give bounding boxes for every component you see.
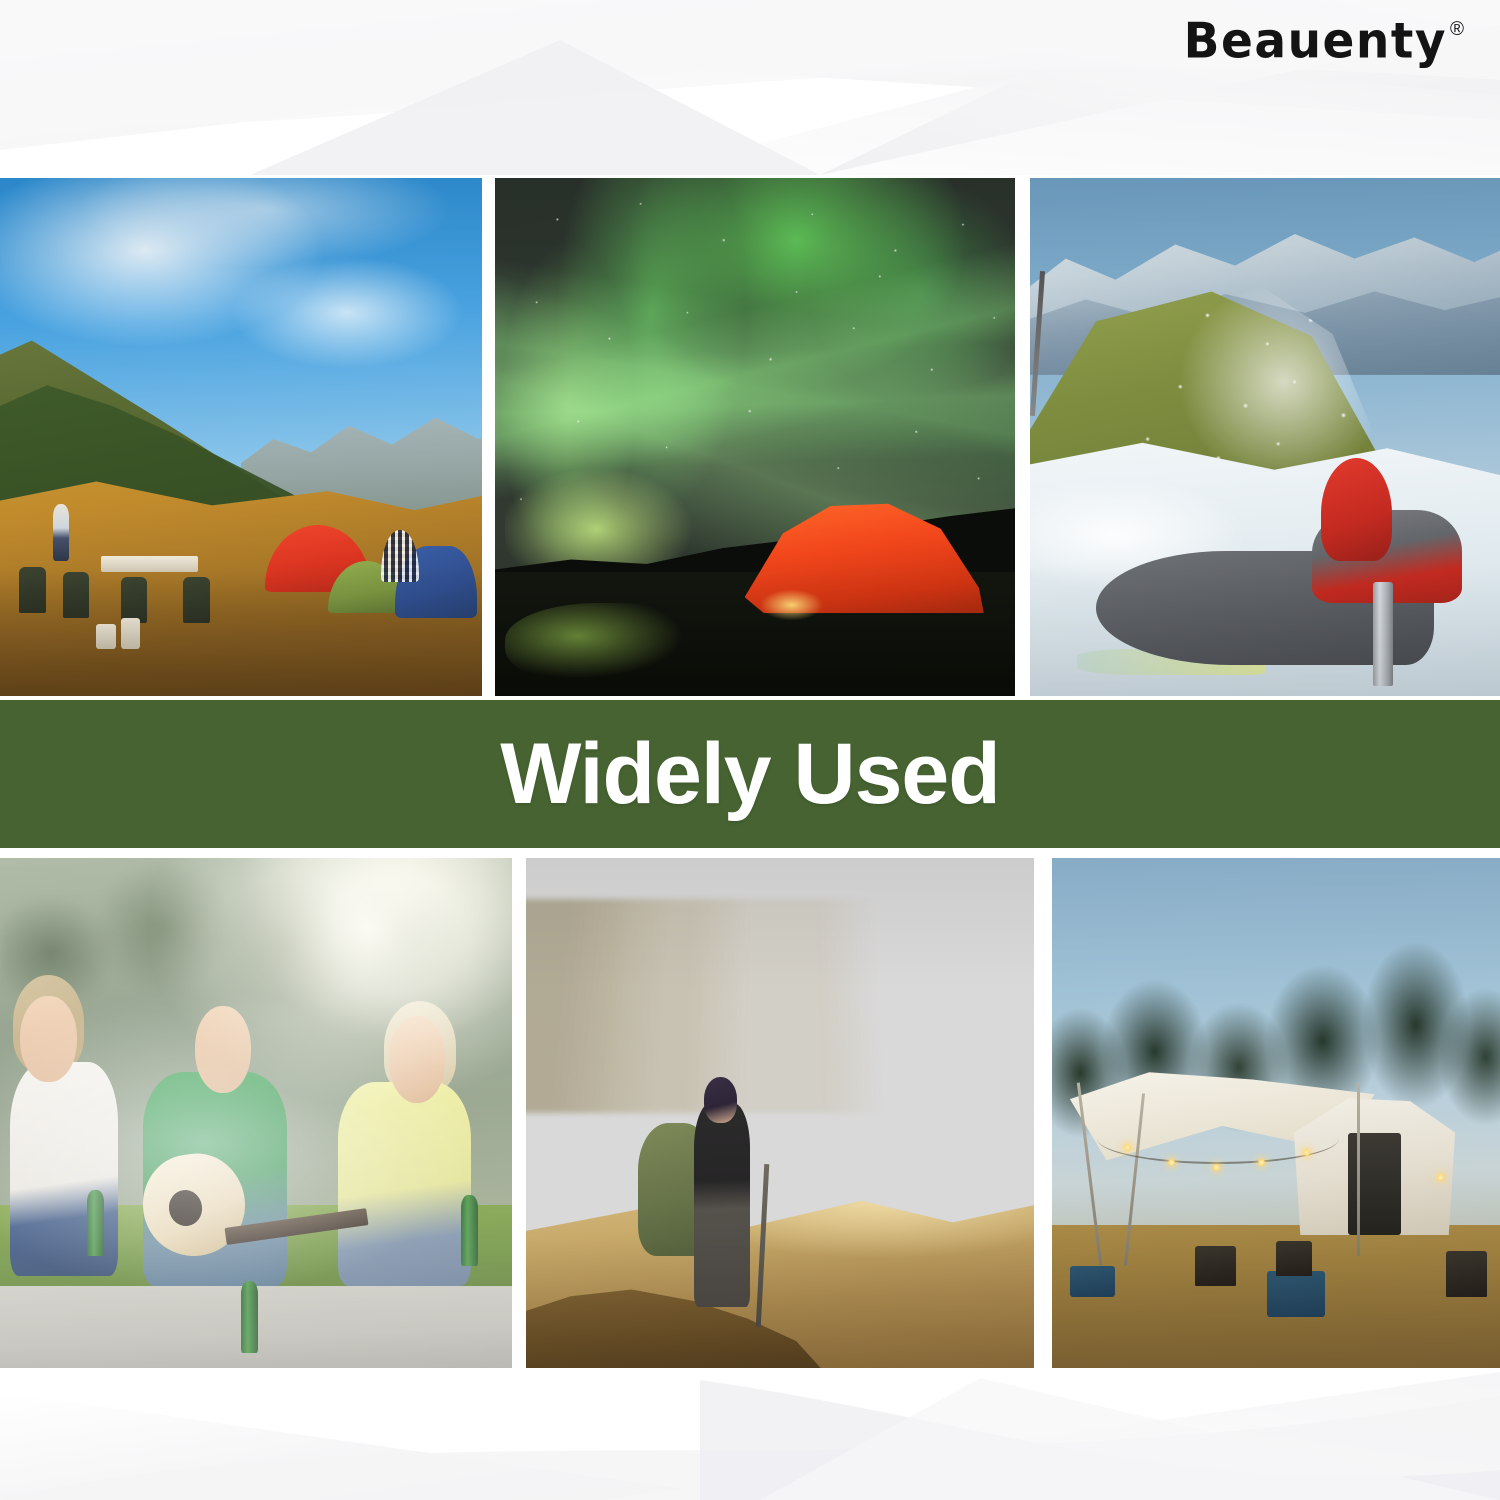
clouds (526, 899, 1034, 1113)
gallery-bottom-row (0, 858, 1500, 1368)
thermos-flask (1373, 582, 1393, 686)
camp-chair (121, 577, 148, 624)
photo-friends-guitar (0, 858, 512, 1368)
camp-chair (19, 567, 46, 614)
water-reflection (505, 603, 713, 686)
photo-aurora-camping (495, 178, 1015, 696)
water-jug (121, 618, 140, 649)
brand-name: Beauenty (1184, 17, 1447, 66)
tarp-pole (1357, 1082, 1360, 1255)
photo-hiker-sunrise (526, 858, 1034, 1368)
photo-winter-camping (1030, 178, 1500, 696)
camp-chair (183, 577, 210, 624)
widely-used-banner: Widely Used (0, 700, 1500, 848)
cooler (96, 624, 115, 650)
camper-figure (53, 504, 69, 561)
gallery-top-row (0, 178, 1500, 696)
photo-mountain-camping (0, 178, 482, 696)
tent-lantern-glow (755, 587, 828, 623)
camp-chair (63, 572, 90, 619)
camp-table (101, 556, 197, 572)
camp-chair (1195, 1246, 1235, 1287)
light-bulb-icon (1124, 1144, 1131, 1151)
banner-title: Widely Used (500, 731, 1000, 817)
sun-haze-overlay (0, 858, 512, 1368)
string-lights (1097, 1113, 1339, 1164)
hiker-figure (694, 1103, 750, 1307)
brand-logo: Beauenty ® (1184, 18, 1464, 65)
storage-box (1267, 1271, 1325, 1317)
cooler-box (1070, 1266, 1115, 1297)
light-bulb-icon (1303, 1149, 1310, 1156)
camp-chair (1276, 1241, 1312, 1277)
product-image-canvas: Beauenty ® (0, 0, 1500, 1500)
photo-glamping-dusk (1052, 858, 1500, 1368)
hiker-head-with-beanie (704, 1077, 738, 1123)
red-hooded-parka (1321, 458, 1392, 562)
header: Beauenty ® (0, 0, 1500, 178)
light-bulb-icon (1258, 1159, 1265, 1166)
camp-chair (1446, 1251, 1486, 1297)
registered-trademark-icon: ® (1450, 20, 1464, 39)
